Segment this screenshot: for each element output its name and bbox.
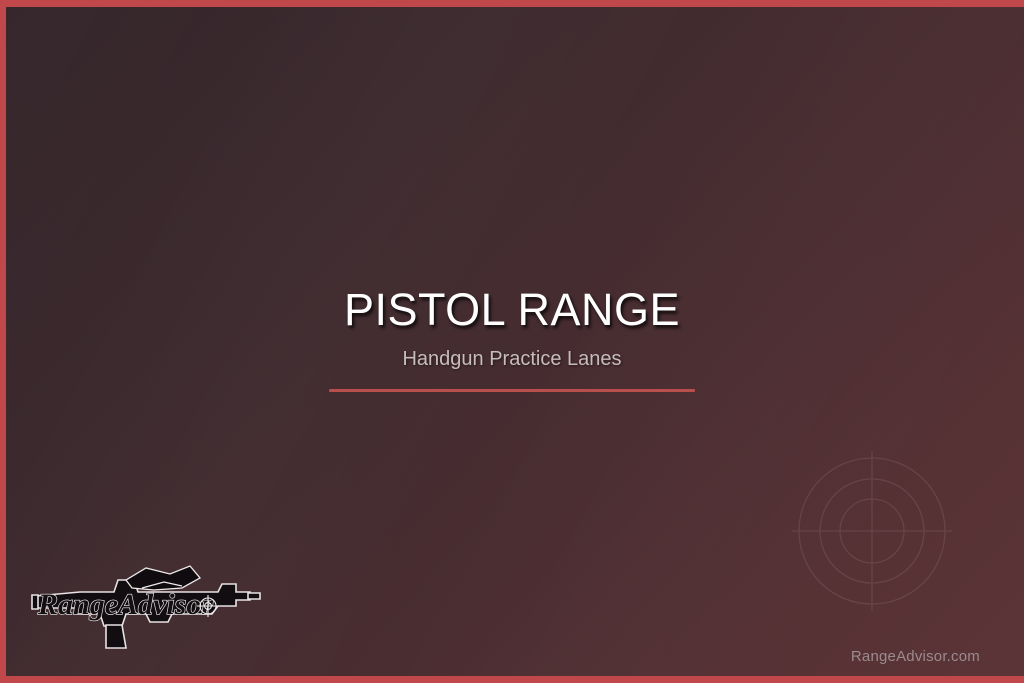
presentation-slide: PISTOL RANGE Handgun Practice Lanes Ra — [0, 0, 1024, 683]
page-subtitle: Handgun Practice Lanes — [0, 348, 1024, 370]
rifle-logo-icon: RangeAdvisor — [22, 562, 262, 652]
logo-wordmark: RangeAdvisor — [37, 588, 213, 621]
page-title: PISTOL RANGE — [0, 286, 1024, 333]
accent-divider — [329, 389, 695, 392]
crosshair-target-icon — [792, 450, 952, 612]
footer-watermark: RangeAdvisor.com — [851, 648, 980, 665]
slide-border-top — [0, 0, 1024, 7]
slide-border-bottom — [0, 676, 1024, 683]
title-block: PISTOL RANGE Handgun Practice Lanes — [0, 286, 1024, 392]
